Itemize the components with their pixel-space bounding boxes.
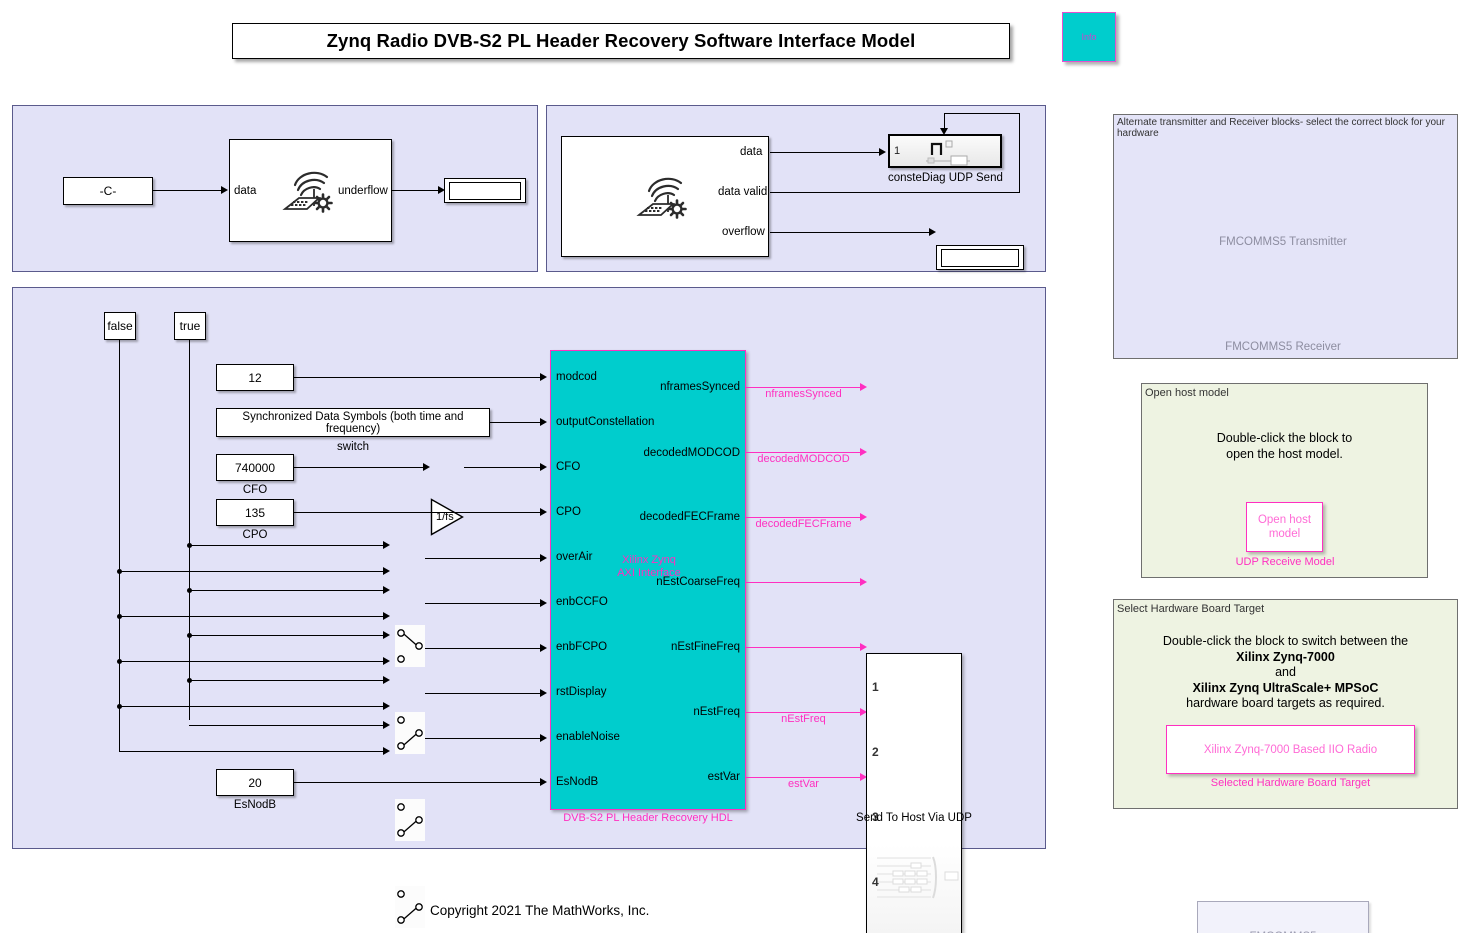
wire-true-trunk bbox=[189, 340, 190, 720]
junction-false-enbCCFO bbox=[117, 614, 122, 619]
constant-esnodb-value: 20 bbox=[248, 776, 261, 790]
hdl-input-enbfcpo: enbFCPO bbox=[556, 641, 607, 653]
arrow-cfo-to-gain bbox=[423, 463, 430, 471]
hw-note-line5: hardware board targets as required. bbox=[1186, 696, 1385, 710]
hdl-input-cfo: CFO bbox=[556, 461, 580, 473]
arrow-rstDisplay-out bbox=[540, 689, 547, 697]
hdl-block-caption: DVB-S2 PL Header Recovery HDL bbox=[550, 812, 746, 824]
wire-true-to-enableNoise bbox=[189, 725, 384, 726]
rx-port-overflow: overflow bbox=[722, 226, 765, 238]
wire-true-to-rstDisplay bbox=[189, 680, 384, 681]
udpsend-port-1: 1 bbox=[894, 145, 900, 157]
signal-label-2: decodedMODCOD bbox=[746, 453, 861, 465]
hardware-target-caption: Select Hardware Board Target bbox=[1113, 602, 1458, 615]
fmcomms5-receiver-caption: FMCOMMS5 Receiver bbox=[1197, 341, 1369, 353]
hdl-input-overair: overAir bbox=[556, 551, 592, 563]
tx-port-data: data bbox=[234, 185, 256, 197]
arrow-false-to-rstDisplay bbox=[383, 702, 390, 710]
signal-label-1: nframesSynced bbox=[746, 388, 861, 400]
wire-sig5 bbox=[746, 647, 861, 648]
hardware-target-note: Double-click the block to switch between… bbox=[1113, 634, 1458, 712]
switch-icon bbox=[395, 886, 425, 928]
wire-enableNoise-out bbox=[425, 738, 541, 739]
hdl-input-enablenoise: enableNoise bbox=[556, 731, 620, 743]
hdl-input-enbccfo: enbCCFO bbox=[556, 596, 608, 608]
open-host-note-line1: Double-click the block to bbox=[1217, 431, 1352, 445]
constant-block-true[interactable]: true bbox=[174, 312, 206, 340]
constant-outputconstellation-caption: switch bbox=[216, 441, 490, 453]
junction-true-enbCCFO bbox=[187, 588, 192, 593]
wire-true-to-enbFCPO bbox=[189, 635, 384, 636]
wire-enbCCFO-out bbox=[425, 603, 541, 604]
udp-network-icon bbox=[875, 852, 963, 902]
wire-modcod bbox=[294, 377, 541, 378]
constant-block-outputconstellation[interactable]: Synchronized Data Symbols (both time and… bbox=[216, 408, 490, 437]
arrow-false-to-enbCCFO bbox=[383, 612, 390, 620]
hardware-target-button-label: Xilinx Zynq-7000 Based IIO Radio bbox=[1204, 743, 1377, 757]
fmcomms5-transmitter-caption: FMCOMMS5 Transmitter bbox=[1197, 236, 1369, 248]
arrow-overflow-to-display bbox=[929, 228, 936, 236]
wire-cpo bbox=[294, 512, 541, 513]
arrow-false-to-enbFCPO bbox=[383, 657, 390, 665]
arrow-sig4 bbox=[860, 578, 867, 586]
wire-false-to-enbFCPO bbox=[119, 661, 384, 662]
copyright-text: Copyright 2021 The MathWorks, Inc. bbox=[430, 903, 649, 918]
info-block-label: Info bbox=[1081, 32, 1096, 42]
hdl-inner-line1: Xilinx Zynq bbox=[622, 554, 676, 566]
wire-c-to-tx bbox=[153, 190, 221, 191]
arrow-true-to-overAir bbox=[383, 541, 390, 549]
hardware-target-button[interactable]: Xilinx Zynq-7000 Based IIO Radio bbox=[1166, 725, 1415, 774]
wire-cfo-to-gain bbox=[294, 467, 424, 468]
wire-enbFCPO-out bbox=[425, 648, 541, 649]
overAir-switch[interactable] bbox=[395, 625, 425, 667]
constant-false-value: false bbox=[107, 319, 132, 333]
page-title: Zynq Radio DVB-S2 PL Header Recovery Sof… bbox=[327, 30, 916, 52]
wire-gain-to-cfo-port bbox=[464, 467, 541, 468]
arrow-true-to-enableNoise bbox=[383, 721, 390, 729]
model-title-block: Zynq Radio DVB-S2 PL Header Recovery Sof… bbox=[232, 23, 1010, 59]
rstDisplay-switch[interactable] bbox=[395, 886, 425, 928]
constant-block-false[interactable]: false bbox=[104, 312, 136, 340]
wire-false-to-enableNoise bbox=[119, 751, 384, 752]
udp-block-caption: Send To Host Via UDP bbox=[846, 812, 982, 824]
hdl-output-decodedfecframe: decodedFECFrame bbox=[601, 511, 740, 523]
arrow-enbCCFO-out bbox=[540, 599, 547, 607]
udp-port-2: 2 bbox=[872, 745, 879, 759]
arrow-modcod bbox=[540, 373, 547, 381]
signal-label-3: decodedFECFrame bbox=[746, 518, 861, 530]
junction-false-enbFCPO bbox=[117, 659, 122, 664]
arrow-outputconstellation bbox=[540, 418, 547, 426]
arrow-sig5 bbox=[860, 643, 867, 651]
switch-icon bbox=[395, 625, 425, 667]
arrow-datavalid-into-udpsend bbox=[940, 128, 948, 135]
wire-false-to-enbCCFO bbox=[119, 616, 384, 617]
arrow-enableNoise-out bbox=[540, 734, 547, 742]
display-overflow-value bbox=[941, 249, 1019, 267]
hdl-input-rstdisplay: rstDisplay bbox=[556, 686, 606, 698]
constant-block-modcod[interactable]: 12 bbox=[216, 364, 294, 391]
display-block-underflow[interactable] bbox=[444, 178, 526, 203]
display-underflow-value bbox=[449, 182, 521, 200]
wire-outputconstellation bbox=[490, 422, 541, 423]
enbCCFO-switch[interactable] bbox=[395, 712, 425, 754]
hdl-output-nframessynced: nframesSynced bbox=[601, 381, 740, 393]
constant-cpo-value: 135 bbox=[245, 506, 265, 520]
model-canvas: Zynq Radio DVB-S2 PL Header Recovery Sof… bbox=[0, 0, 1474, 933]
hw-note-line4: Xilinx Zynq UltraScale+ MPSoC bbox=[1193, 681, 1379, 695]
wire-rx-data-to-udpsend bbox=[770, 152, 880, 153]
open-host-note-line2: open the host model. bbox=[1226, 447, 1343, 461]
hardware-target-button-caption: Selected Hardware Board Target bbox=[1166, 777, 1415, 789]
constant-block-cpo[interactable]: 135 bbox=[216, 499, 294, 526]
open-host-model-caption: Open host model bbox=[1141, 386, 1428, 399]
constant-modcod-value: 12 bbox=[248, 371, 261, 385]
junction-false-overAir bbox=[117, 569, 122, 574]
constant-true-value: true bbox=[180, 319, 201, 333]
constediag-udp-send-block[interactable]: 1 bbox=[888, 134, 1002, 168]
wire-false-to-overAir bbox=[119, 571, 384, 572]
hdl-input-cpo: CPO bbox=[556, 506, 581, 518]
constant-block-esnodb[interactable]: 20 bbox=[216, 769, 294, 796]
wire-rstDisplay-out bbox=[425, 693, 541, 694]
arrow-false-to-overAir bbox=[383, 567, 390, 575]
constant-cpo-caption: CPO bbox=[216, 529, 294, 541]
wire-overflow-to-display bbox=[770, 232, 930, 233]
switch-icon bbox=[395, 799, 425, 841]
wire-tx-to-display bbox=[392, 190, 440, 191]
constant-cfo-caption: CFO bbox=[216, 484, 294, 496]
constant-cfo-value: 740000 bbox=[235, 461, 275, 475]
wire-overAir-out bbox=[425, 558, 541, 559]
arrow-esnodb bbox=[540, 778, 547, 786]
arrow-sig2 bbox=[860, 448, 867, 456]
arrow-sig3 bbox=[860, 513, 867, 521]
wire-datavalid-h-top bbox=[944, 113, 1020, 114]
wire-sig4 bbox=[746, 582, 861, 583]
junction-false-rstDisplay bbox=[117, 704, 122, 709]
tx-port-underflow: underflow bbox=[338, 185, 388, 197]
rx-port-data-valid: data valid bbox=[718, 186, 767, 198]
display-block-overflow[interactable] bbox=[936, 245, 1024, 270]
arrow-false-to-enableNoise bbox=[383, 747, 390, 755]
open-host-model-button[interactable]: Open host model bbox=[1246, 502, 1323, 552]
constant-c-value: -C- bbox=[100, 184, 117, 198]
arrow-true-to-enbFCPO bbox=[383, 631, 390, 639]
open-host-model-button-caption: UDP Receive Model bbox=[1200, 556, 1370, 568]
wire-datavalid-h bbox=[770, 192, 1020, 193]
hdl-output-nestfinefreq: nEstFineFreq bbox=[601, 641, 740, 653]
info-block[interactable]: Info bbox=[1062, 12, 1116, 62]
arrow-gain-to-cfo-port bbox=[540, 463, 547, 471]
gain-block-1overfs[interactable]: 1/fs bbox=[430, 498, 464, 536]
arrow-true-to-rstDisplay bbox=[383, 676, 390, 684]
arrow-overAir-out bbox=[540, 554, 547, 562]
arrow-rx-data-to-udpsend bbox=[879, 148, 886, 156]
arrow-enbFCPO-out bbox=[540, 644, 547, 652]
constant-block-cfo[interactable]: 740000 bbox=[216, 454, 294, 481]
arrow-true-to-enbCCFO bbox=[383, 586, 390, 594]
switch-icon bbox=[395, 712, 425, 754]
signal-label-7: estVar bbox=[746, 778, 861, 790]
hdl-output-nestcoarsefreq: nEstCoarseFreq bbox=[601, 576, 740, 588]
hdl-output-nestfreq: nEstFreq bbox=[601, 706, 740, 718]
alternate-blocks-caption: Alternate transmitter and Receiver block… bbox=[1113, 116, 1458, 139]
hw-note-line3: and bbox=[1275, 665, 1296, 679]
arrow-c-to-tx bbox=[221, 186, 228, 194]
junction-true-overAir bbox=[187, 543, 192, 548]
udp-port-1: 1 bbox=[872, 680, 879, 694]
udp-port-4: 4 bbox=[872, 875, 879, 889]
hw-note-line1: Double-click the block to switch between… bbox=[1163, 634, 1408, 648]
hdl-output-estvar: estVar bbox=[601, 771, 740, 783]
pulse-icon bbox=[926, 139, 970, 167]
rx-port-data: data bbox=[740, 146, 762, 158]
wire-false-trunk bbox=[119, 340, 120, 752]
wire-datavalid-v-right bbox=[1019, 113, 1020, 193]
hdl-output-decodedmodcod: decodedMODCOD bbox=[601, 447, 740, 459]
hdl-input-esnodb: EsNodB bbox=[556, 776, 598, 788]
hw-note-line2: Xilinx Zynq-7000 bbox=[1236, 650, 1335, 664]
constant-esnodb-caption: EsNodB bbox=[216, 799, 294, 811]
enbFCPO-switch[interactable] bbox=[395, 799, 425, 841]
open-host-button-line2: model bbox=[1269, 528, 1300, 540]
open-host-button-line1: Open host bbox=[1258, 514, 1311, 526]
radio-gear-icon bbox=[279, 159, 343, 223]
hdl-input-outputconstellation: outputConstellation bbox=[556, 416, 654, 428]
radio-gear-icon bbox=[633, 165, 697, 229]
wire-true-to-enbCCFO bbox=[189, 590, 384, 591]
constediag-udp-send-caption: consteDiag UDP Send bbox=[888, 172, 1002, 184]
arrow-sig1 bbox=[860, 383, 867, 391]
arrow-cpo bbox=[540, 508, 547, 516]
junction-true-enbFCPO bbox=[187, 633, 192, 638]
open-host-model-note: Double-click the block to open the host … bbox=[1141, 431, 1428, 462]
fmcomms5-transmitter-block[interactable]: FMCOMMS5 Transmitter data underflow % ❯ … bbox=[1197, 901, 1369, 933]
hdl-input-modcod: modcod bbox=[556, 371, 597, 383]
signal-label-6: nEstFreq bbox=[746, 713, 861, 725]
wire-false-to-rstDisplay bbox=[119, 706, 384, 707]
send-to-host-via-udp-block[interactable]: 1 2 3 4 5 6 7 bbox=[866, 653, 962, 933]
constant-block-c[interactable]: -C- bbox=[63, 177, 153, 205]
wire-esnodb bbox=[294, 782, 541, 783]
wire-true-to-overAir bbox=[189, 545, 384, 546]
junction-true-rstDisplay bbox=[187, 678, 192, 683]
constant-outputconstellation-value: Synchronized Data Symbols (both time and… bbox=[217, 411, 489, 435]
